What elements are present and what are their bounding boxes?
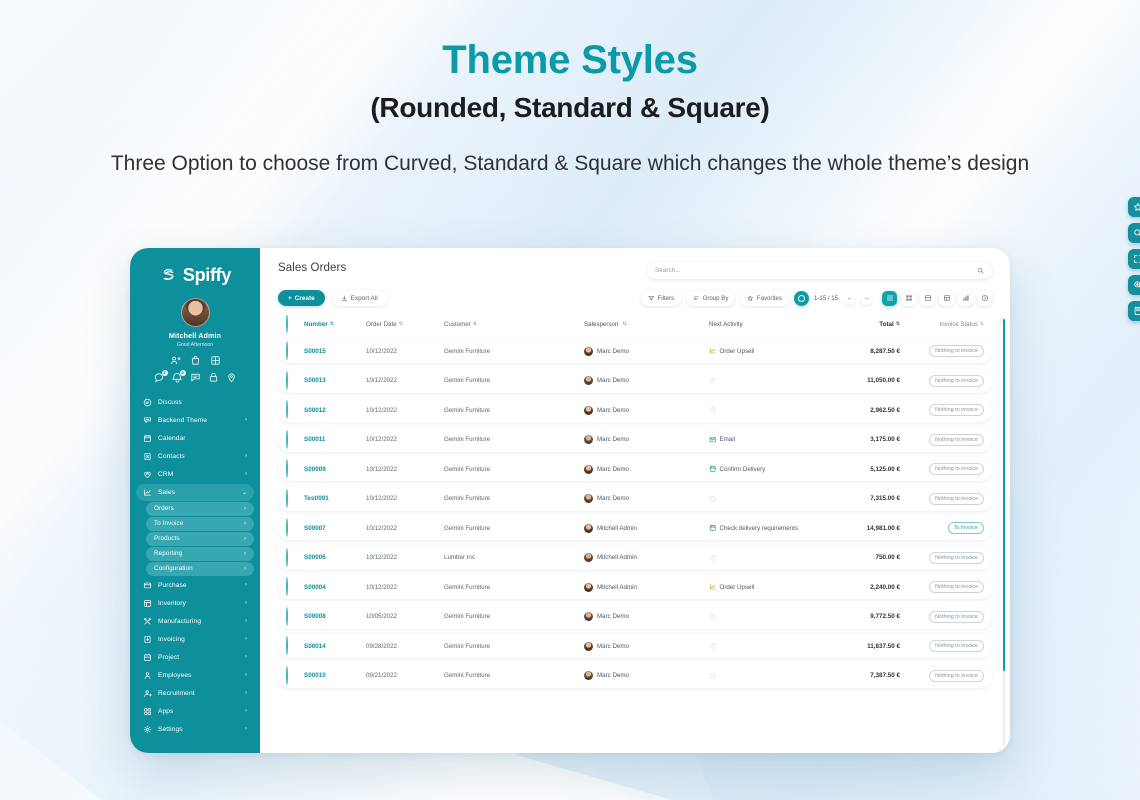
sidebar-item-label: Manufacturing — [158, 618, 239, 625]
sidebar-item-label: Apps — [158, 708, 239, 715]
email-icon — [709, 436, 717, 444]
switch-user-icon[interactable] — [170, 355, 181, 366]
sidebar-item-orders[interactable]: Orders › — [146, 502, 254, 516]
salesperson-name: Marc Demo — [597, 348, 629, 355]
cell-customer: Gemini Furniture — [444, 436, 584, 443]
search-icon[interactable] — [977, 267, 984, 274]
cell-next-activity: Confirm Delivery — [709, 465, 830, 473]
view-activity[interactable] — [977, 291, 992, 306]
table-row[interactable]: S0001210/12/2022Gemini FurnitureMarc Dem… — [278, 398, 992, 422]
status-badge: Nothing to invoice — [929, 581, 984, 593]
sidebar-item-project[interactable]: Project › — [136, 649, 254, 666]
table-row[interactable]: S0001110/12/2022Gemini FurnitureMarc Dem… — [278, 428, 992, 452]
sort-icon: ⇅ — [896, 321, 900, 327]
cell-order-date: 09/28/2022 — [366, 643, 444, 650]
column-label: Invoice Status — [940, 321, 978, 328]
cell-customer: Gemini Furniture — [444, 584, 584, 591]
status-badge: Nothing to invoice — [929, 640, 984, 652]
row-select-radio[interactable] — [286, 459, 288, 478]
column-header-total[interactable]: Total ⇅ — [830, 321, 900, 328]
table-row[interactable]: S0000710/12/2022Gemini FurnitureMitchell… — [278, 516, 992, 540]
cell-number[interactable]: S00014 — [304, 643, 366, 650]
row-select-radio[interactable] — [286, 518, 288, 537]
cell-customer: Gemini Furniture — [444, 377, 584, 384]
status-badge: Nothing to invoice — [929, 611, 984, 623]
column-header-order-date[interactable]: Order Date ⇅ — [366, 321, 444, 328]
cell-number[interactable]: Test/001 — [304, 495, 366, 502]
salesperson-name: Marc Demo — [597, 495, 629, 502]
export-all-button[interactable]: Export All — [332, 290, 387, 306]
toolbar: Sales Orders Search... + Create — [260, 248, 1010, 306]
salesperson-name: Marc Demo — [597, 407, 629, 414]
sidebar-item-label: Purchase — [158, 582, 239, 589]
status-badge: Nothing to invoice — [929, 493, 984, 505]
sidebar-item-label: Orders — [154, 505, 238, 512]
clock-icon — [709, 613, 717, 621]
spinner-icon[interactable] — [794, 291, 809, 306]
calendar-icon — [709, 465, 717, 473]
avatar — [584, 524, 593, 533]
cell-total: 9,772.50 € — [830, 613, 900, 620]
create-button[interactable]: + Create — [278, 290, 325, 306]
scrollbar-thumb[interactable] — [1003, 319, 1006, 671]
cell-customer: Lumber Inc — [444, 554, 584, 561]
cell-total: 3,175.00 € — [830, 436, 900, 443]
recruitment-icon — [143, 689, 152, 698]
cell-number[interactable]: S00008 — [304, 613, 366, 620]
sales-chart-icon — [143, 488, 152, 497]
arrow-left-icon[interactable]: ← — [843, 292, 856, 305]
chevron-right-icon: › — [244, 536, 246, 542]
user-profile[interactable]: Mitchell Admin Good Afternoon — [130, 298, 260, 348]
column-label: Number — [304, 321, 328, 328]
salesperson-name: Marc Demo — [597, 466, 629, 473]
view-list[interactable] — [882, 291, 897, 306]
cell-customer: Gemini Furniture — [444, 466, 584, 473]
sidebar-item-purchase[interactable]: Purchase › — [136, 577, 254, 594]
sidebar-menu: Discuss Backend Theme › Calendar Contact… — [130, 394, 260, 749]
status-badge: Nothing to invoice — [929, 552, 984, 564]
shopping-bag-icon[interactable] — [190, 355, 201, 366]
sidebar-item-label: Recruitment — [158, 690, 239, 697]
sort-icon: ⇅ — [980, 321, 984, 327]
chevron-right-icon: › — [245, 654, 247, 660]
sidebar-item-configuration[interactable]: Configuration › — [146, 562, 254, 576]
row-select-radio[interactable] — [286, 666, 288, 685]
sidebar-item-employees[interactable]: Employees › — [136, 667, 254, 684]
cell-customer: Gemini Furniture — [444, 348, 584, 355]
cell-next-activity — [709, 377, 830, 385]
sort-icon: ⇅ — [622, 321, 626, 327]
cell-number[interactable]: S00011 — [304, 436, 366, 443]
search-input[interactable]: Search... — [647, 262, 992, 279]
sidebar-item-crm[interactable]: CRM › — [136, 466, 254, 483]
sidebar-item-backend-theme[interactable]: Backend Theme › — [136, 412, 254, 429]
chart-upsell-icon — [709, 583, 717, 591]
column-header-next-activity[interactable]: Next Activity — [709, 321, 830, 328]
search-icon — [1133, 228, 1140, 238]
sidebar-item-inventory[interactable]: Inventory › — [136, 595, 254, 612]
crm-icon — [143, 470, 152, 479]
sidebar-item-label: Sales — [158, 489, 236, 496]
cell-total: 5,125.00 € — [830, 466, 900, 473]
table-row[interactable]: Test/00110/12/2022Gemini FurnitureMarc D… — [278, 487, 992, 511]
rail-fullscreen-button[interactable] — [1128, 249, 1140, 269]
user-greeting: Good Afternoon — [130, 342, 260, 348]
avatar — [584, 376, 593, 385]
cell-next-activity: Order Upsell — [709, 583, 830, 591]
sidebar-item-discuss[interactable]: Discuss — [136, 394, 254, 411]
sidebar-item-label: Backend Theme — [158, 417, 239, 424]
chevron-right-icon: › — [245, 636, 247, 642]
cell-salesperson: Marc Demo — [584, 642, 709, 651]
chart-upsell-icon — [709, 347, 717, 355]
salesperson-name: Marc Demo — [597, 613, 629, 620]
filter-icon — [648, 295, 655, 302]
plus-icon: + — [288, 295, 292, 302]
chevron-right-icon: › — [245, 453, 247, 459]
cell-next-activity — [709, 642, 830, 650]
column-label: Customer — [444, 321, 471, 328]
activity-label: Email — [720, 436, 735, 443]
cell-total: 11,050.00 € — [830, 377, 900, 384]
table-row[interactable]: S0000910/12/2022Gemini FurnitureMarc Dem… — [278, 457, 992, 481]
cell-order-date: 10/12/2022 — [366, 407, 444, 414]
export-all-label: Export All — [351, 295, 378, 302]
activity-icon[interactable] — [190, 372, 201, 383]
sidebar-item-calendar[interactable]: Calendar — [136, 430, 254, 447]
cell-number[interactable]: S00013 — [304, 377, 366, 384]
create-button-label: Create — [295, 295, 315, 302]
view-calendar[interactable] — [920, 291, 935, 306]
row-select-radio[interactable] — [286, 341, 288, 360]
sidebar-item-label: Employees — [158, 672, 239, 679]
status-badge: Nothing to invoice — [929, 404, 984, 416]
app-window-screenshot: Spiffy Mitchell Admin Good Afternoon 2 — [130, 248, 1010, 753]
cell-next-activity — [709, 672, 830, 680]
cell-salesperson: Marc Demo — [584, 406, 709, 415]
download-icon — [341, 295, 348, 302]
sidebar-item-apps[interactable]: Apps › — [136, 703, 254, 720]
column-header-customer[interactable]: Customer ⇅ — [444, 321, 584, 328]
sidebar-item-label: Discuss — [158, 399, 241, 406]
cell-order-date: 10/12/2022 — [366, 466, 444, 473]
calendar-icon — [143, 434, 152, 443]
avatar — [584, 553, 593, 562]
table-body: S0001510/12/2022Gemini FurnitureMarc Dem… — [278, 339, 992, 688]
row-select-radio[interactable] — [286, 489, 288, 508]
sidebar-item-label: Calendar — [158, 435, 241, 442]
cell-order-date: 10/12/2022 — [366, 584, 444, 591]
location-pin-icon[interactable] — [226, 372, 237, 383]
chevron-right-icon: › — [245, 582, 247, 588]
cell-customer: Gemini Furniture — [444, 643, 584, 650]
sort-icon: ⇅ — [399, 321, 403, 327]
avatar — [584, 494, 593, 503]
column-label: Next Activity — [709, 321, 743, 328]
pagination: 1-15 / 15 ← → — [794, 291, 873, 306]
filters-button[interactable]: Filters — [641, 291, 681, 306]
sidebar-item-label: Invoicing — [158, 636, 239, 643]
hero-section: Theme Styles (Rounded, Standard & Square… — [0, 0, 1140, 178]
badge-count: 2 — [162, 370, 168, 376]
avatar — [584, 435, 593, 444]
cell-number[interactable]: S00004 — [304, 584, 366, 591]
arrow-right-icon[interactable]: → — [860, 292, 873, 305]
status-badge: Nothing to invoice — [929, 463, 984, 475]
view-pivot[interactable] — [939, 291, 954, 306]
cell-order-date: 10/12/2022 — [366, 377, 444, 384]
quick-icons-row-2: 2 4 — [130, 372, 260, 383]
status-badge: Nothing to invoice — [929, 345, 984, 357]
cell-salesperson: Mitchell Admin — [584, 524, 709, 533]
table-row[interactable]: S0000810/05/2022Gemini FurnitureMarc Dem… — [278, 605, 992, 629]
row-select-radio[interactable] — [286, 636, 288, 655]
row-select-radio[interactable] — [286, 577, 288, 596]
sidebar-item-to-invoice[interactable]: To Invoice › — [146, 517, 254, 531]
view-graph[interactable] — [958, 291, 973, 306]
column-label: Total — [879, 321, 894, 328]
view-switcher — [882, 291, 992, 306]
row-select-radio[interactable] — [286, 430, 288, 449]
salesperson-name: Marc Demo — [597, 436, 629, 443]
status-badge: Nothing to invoice — [929, 434, 984, 446]
table-row[interactable]: S0001409/28/2022Gemini FurnitureMarc Dem… — [278, 634, 992, 658]
sidebar-item-label: CRM — [158, 471, 239, 478]
apps-icon — [143, 707, 152, 716]
cell-number[interactable]: S00012 — [304, 407, 366, 414]
avatar — [584, 583, 593, 592]
salesperson-name: Mitchell Admin — [597, 584, 637, 591]
cell-next-activity: Order Upsell — [709, 347, 830, 355]
sidebar-item-products[interactable]: Products › — [146, 532, 254, 546]
cell-order-date: 10/12/2022 — [366, 436, 444, 443]
cell-number[interactable]: S00015 — [304, 348, 366, 355]
row-select-radio[interactable] — [286, 371, 288, 390]
rail-search-button[interactable] — [1128, 223, 1140, 243]
chevron-right-icon: › — [244, 551, 246, 557]
cell-next-activity: Email — [709, 436, 830, 444]
activity-label: Confirm Delivery — [720, 466, 766, 473]
cell-number[interactable]: S00010 — [304, 672, 366, 679]
avatar — [584, 612, 593, 621]
group-by-button[interactable]: Group By — [686, 291, 735, 306]
cell-total: 2,962.50 € — [830, 407, 900, 414]
table-row[interactable]: S0000610/12/2022Lumber IncMitchell Admin… — [278, 546, 992, 570]
cell-salesperson: Marc Demo — [584, 612, 709, 621]
column-header-invoice-status[interactable]: Invoice Status ⇅ — [900, 321, 984, 328]
chevron-right-icon: › — [245, 600, 247, 606]
column-header-salesperson[interactable]: Salesperson ⇅ — [584, 321, 709, 328]
sidebar: Spiffy Mitchell Admin Good Afternoon 2 — [130, 248, 260, 753]
cell-number[interactable]: S00006 — [304, 554, 366, 561]
cell-number[interactable]: S00009 — [304, 466, 366, 473]
cell-customer: Gemini Furniture — [444, 407, 584, 414]
zoom-in-icon — [1133, 280, 1140, 290]
contacts-icon — [143, 452, 152, 461]
cell-total: 7,315.00 € — [830, 495, 900, 502]
row-select-radio[interactable] — [286, 607, 288, 626]
table-row[interactable]: S0000410/12/2022Gemini FurnitureMitchell… — [278, 575, 992, 599]
clock-icon — [709, 642, 717, 650]
sidebar-item-label: Settings — [158, 726, 239, 733]
cell-total: 8,287.50 € — [830, 348, 900, 355]
salesperson-name: Marc Demo — [597, 643, 629, 650]
cell-order-date: 10/12/2022 — [366, 495, 444, 502]
chevron-right-icon: › — [245, 618, 247, 624]
status-badge: To Invoice — [948, 522, 984, 534]
sidebar-item-contacts[interactable]: Contacts › — [136, 448, 254, 465]
row-select-radio[interactable] — [286, 548, 288, 567]
cell-customer: Gemini Furniture — [444, 672, 584, 679]
main-content: Sales Orders Search... + Create — [260, 248, 1010, 753]
messages-icon[interactable]: 2 — [154, 372, 165, 383]
column-header-number[interactable]: Number ⇅ — [304, 321, 366, 328]
chevron-right-icon: › — [245, 726, 247, 732]
chevron-right-icon: › — [245, 708, 247, 714]
chevron-right-icon: › — [245, 471, 247, 477]
cell-order-date: 10/12/2022 — [366, 554, 444, 561]
star-icon — [747, 295, 754, 302]
clock-icon — [709, 406, 717, 414]
cell-customer: Gemini Furniture — [444, 525, 584, 532]
chevron-right-icon: › — [244, 521, 246, 527]
sidebar-item-manufacturing[interactable]: Manufacturing › — [136, 613, 254, 630]
apps-grid-icon[interactable] — [210, 355, 221, 366]
sidebar-item-invoicing[interactable]: Invoicing › — [136, 631, 254, 648]
cell-next-activity — [709, 406, 830, 414]
project-icon — [143, 653, 152, 662]
user-name: Mitchell Admin — [130, 331, 260, 340]
salesperson-name: Mitchell Admin — [597, 554, 637, 561]
spiffy-logo-icon — [159, 266, 178, 285]
manufacturing-icon — [143, 617, 152, 626]
activity-label: Order Upsell — [720, 348, 755, 355]
avatar — [584, 465, 593, 474]
page-title: Theme Styles — [0, 38, 1140, 82]
table-row[interactable]: S0001510/12/2022Gemini FurnitureMarc Dem… — [278, 339, 992, 363]
chevron-right-icon: › — [244, 566, 246, 572]
cell-customer: Gemini Furniture — [444, 613, 584, 620]
salesperson-name: Mitchell Admin — [597, 525, 637, 532]
chevron-right-icon: › — [245, 672, 247, 678]
inventory-icon — [143, 599, 152, 608]
rail-favorite-button[interactable] — [1128, 197, 1140, 217]
cell-total: 750.00 € — [830, 554, 900, 561]
badge-count: 4 — [180, 370, 186, 376]
chevron-right-icon: › — [245, 417, 247, 423]
sidebar-item-label: Inventory — [158, 600, 239, 607]
group-by-label: Group By — [703, 295, 729, 302]
cell-next-activity — [709, 495, 830, 503]
rail-bookmark-button[interactable] — [1128, 301, 1140, 321]
sidebar-item-label: Contacts — [158, 453, 239, 460]
bookmark-icon — [1133, 306, 1140, 316]
avatar — [584, 671, 593, 680]
sidebar-item-label: Project — [158, 654, 239, 661]
cell-next-activity — [709, 554, 830, 562]
calendar-icon — [709, 524, 717, 532]
cell-total: 7,387.50 € — [830, 672, 900, 679]
sort-icon: ⇅ — [473, 321, 477, 327]
select-all-radio[interactable] — [286, 315, 288, 333]
cell-next-activity — [709, 613, 830, 621]
sidebar-item-label: Products — [154, 535, 238, 542]
table-header-row: Number ⇅ Order Date ⇅ Customer ⇅ Salespe… — [278, 315, 992, 339]
sidebar-item-settings[interactable]: Settings › — [136, 721, 254, 738]
cell-salesperson: Marc Demo — [584, 671, 709, 680]
search-placeholder: Search... — [655, 267, 977, 274]
cell-order-date: 10/05/2022 — [366, 613, 444, 620]
invoicing-icon — [143, 635, 152, 644]
employees-icon — [143, 671, 152, 680]
quick-icons-row-1 — [130, 355, 260, 366]
cell-salesperson: Marc Demo — [584, 465, 709, 474]
cell-total: 14,981.00 € — [830, 525, 900, 532]
clock-icon — [709, 554, 717, 562]
expand-icon — [1133, 254, 1140, 264]
activity-label: Check delivery requirements — [720, 525, 798, 532]
cell-order-date: 10/12/2022 — [366, 348, 444, 355]
settings-gear-icon — [143, 725, 152, 734]
lock-icon[interactable] — [208, 372, 219, 383]
sidebar-item-reporting[interactable]: Reporting › — [146, 547, 254, 561]
sidebar-item-recruitment[interactable]: Recruitment › — [136, 685, 254, 702]
status-badge: Nothing to invoice — [929, 375, 984, 387]
cell-salesperson: Marc Demo — [584, 376, 709, 385]
page-description: Three Option to choose from Curved, Stan… — [0, 150, 1140, 178]
list-lines-icon — [693, 295, 700, 302]
cell-salesperson: Mitchell Admin — [584, 583, 709, 592]
discuss-icon — [143, 398, 152, 407]
rail-zoom-button[interactable] — [1128, 275, 1140, 295]
avatar — [584, 642, 593, 651]
favorites-label: Favorites — [757, 295, 782, 302]
sidebar-item-label: Configuration — [154, 565, 238, 572]
table-row[interactable]: S0001009/21/2022Gemini FurnitureMarc Dem… — [278, 664, 992, 688]
cell-total: 2,240.00 € — [830, 584, 900, 591]
favorites-button[interactable]: Favorites — [740, 291, 789, 306]
cell-salesperson: Marc Demo — [584, 494, 709, 503]
clock-icon — [709, 495, 717, 503]
view-kanban[interactable] — [901, 291, 916, 306]
clock-icon — [709, 377, 717, 385]
cell-total: 11,837.50 € — [830, 643, 900, 650]
cell-order-date: 09/21/2022 — [366, 672, 444, 679]
breadcrumb: Sales Orders — [278, 262, 346, 274]
purchase-icon — [143, 581, 152, 590]
notifications-icon[interactable]: 4 — [172, 372, 183, 383]
avatar — [584, 347, 593, 356]
chevron-right-icon: › — [244, 506, 246, 512]
column-label: Salesperson — [584, 321, 618, 328]
status-badge: Nothing to invoice — [929, 670, 984, 682]
salesperson-name: Marc Demo — [597, 672, 629, 679]
sidebar-item-label: To Invoice — [154, 520, 238, 527]
sidebar-item-sales[interactable]: Sales ⌄ — [136, 484, 254, 501]
brand-logo[interactable]: Spiffy — [130, 260, 260, 290]
pagination-label: 1-15 / 15 — [813, 295, 839, 302]
sort-icon: ⇅ — [330, 321, 334, 327]
cell-number[interactable]: S00007 — [304, 525, 366, 532]
page-subtitle: (Rounded, Standard & Square) — [0, 92, 1140, 124]
table-row[interactable]: S0001310/12/2022Gemini FurnitureMarc Dem… — [278, 369, 992, 393]
theme-icon — [143, 416, 152, 425]
row-select-radio[interactable] — [286, 400, 288, 419]
activity-label: Order Upsell — [720, 584, 755, 591]
clock-icon — [709, 672, 717, 680]
cell-salesperson: Mitchell Admin — [584, 553, 709, 562]
